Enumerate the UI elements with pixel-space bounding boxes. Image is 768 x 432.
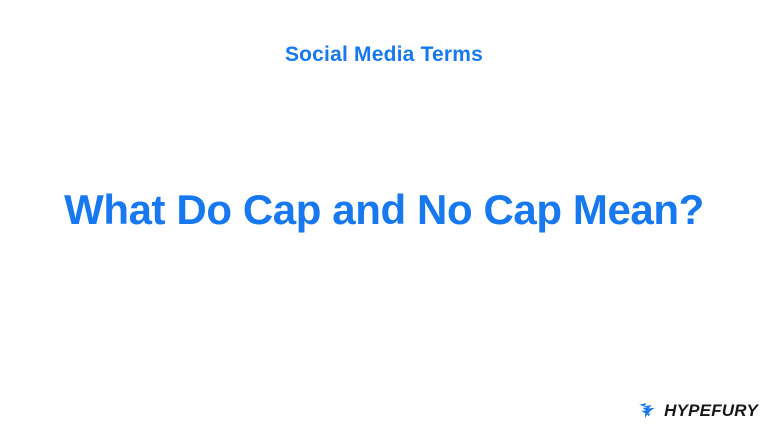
bird-icon — [638, 401, 658, 419]
slide-headline: What Do Cap and No Cap Mean? — [64, 186, 704, 234]
headline-container: What Do Cap and No Cap Mean? — [0, 186, 768, 234]
hypefury-logo: HYPEFURY — [638, 398, 758, 422]
slide-canvas: Social Media Terms What Do Cap and No Ca… — [0, 0, 768, 432]
hypefury-wordmark: HYPEFURY — [664, 402, 758, 419]
slide-eyebrow-title: Social Media Terms — [0, 42, 768, 67]
